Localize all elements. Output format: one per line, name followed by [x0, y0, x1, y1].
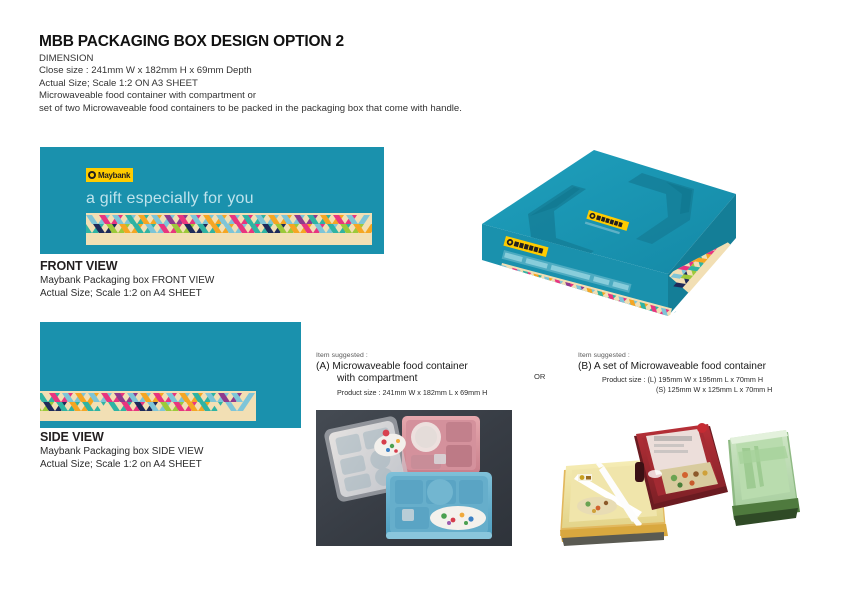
green-food-container — [728, 430, 800, 526]
chevron-pattern-front — [86, 213, 372, 245]
front-view-caption-line2: Actual Size; Scale 1:2 on A4 SHEET — [40, 287, 214, 300]
front-view-caption-title: FRONT VIEW — [40, 259, 214, 273]
option-b-block: Item suggested : (B) A set of Microwavea… — [578, 352, 772, 394]
option-b-product-size-l: Product size : (L) 195mm W x 195mm L x 7… — [578, 375, 772, 384]
front-view-caption: FRONT VIEW Maybank Packaging box FRONT V… — [40, 259, 214, 300]
blue-food-container — [386, 472, 492, 539]
option-a-block: Item suggested : (A) Microwaveable food … — [316, 352, 487, 397]
option-b-product-size-s: (S) 125mm W x 125mm L x 70mm H — [578, 385, 772, 394]
option-a-photo — [316, 410, 512, 546]
chevron-band-side — [40, 391, 256, 421]
packaging-box-3d-render — [468, 128, 738, 323]
side-view-caption-title: SIDE VIEW — [40, 430, 203, 444]
option-b-photo — [542, 418, 804, 550]
header-line-0: DIMENSION — [39, 53, 462, 65]
box-3d-svg — [468, 128, 738, 323]
option-b-photo-svg — [542, 418, 804, 550]
pink-food-container — [402, 416, 480, 474]
tagline-front: a gift especially for you — [86, 190, 254, 208]
option-b-item-suggested: Item suggested : — [578, 352, 772, 359]
header-line-4: set of two Microwaveable food containers… — [39, 103, 462, 115]
header-line-1: Close size : 241mm W x 182mm H x 69mm De… — [39, 65, 462, 77]
design-sheet: MBB PACKAGING BOX DESIGN OPTION 2 DIMENS… — [0, 0, 842, 595]
chevron-pattern-side — [40, 391, 256, 421]
option-a-product-size: Product size : 241mm W x 182mm L x 69mm … — [316, 388, 487, 397]
header-line-3: Microwaveable food container with compar… — [39, 90, 462, 102]
side-view-caption-line2: Actual Size; Scale 1:2 on A4 SHEET — [40, 458, 203, 471]
option-a-photo-svg — [316, 410, 512, 546]
maybank-wordmark: Maybank — [98, 171, 130, 180]
option-a-title-line2: with compartment — [316, 373, 487, 385]
chevron-band-front — [86, 213, 372, 245]
side-view-caption-line1: Maybank Packaging box SIDE VIEW — [40, 445, 203, 458]
option-a-title-line1: (A) Microwaveable food container — [316, 361, 487, 373]
header-block: MBB PACKAGING BOX DESIGN OPTION 2 DIMENS… — [39, 33, 462, 115]
front-view-caption-line1: Maybank Packaging box FRONT VIEW — [40, 274, 214, 287]
option-b-title-line1: (B) A set of Microwaveable food containe… — [578, 361, 772, 373]
side-view-artwork — [40, 322, 301, 428]
front-view-artwork: Maybank a gift especially for you — [40, 147, 384, 254]
side-view-caption: SIDE VIEW Maybank Packaging box SIDE VIE… — [40, 430, 203, 471]
maybank-logo-front: Maybank — [86, 168, 133, 182]
page-title: MBB PACKAGING BOX DESIGN OPTION 2 — [39, 33, 462, 51]
maybank-tiger-icon — [88, 171, 96, 179]
header-line-2: Actual Size; Scale 1:2 ON A3 SHEET — [39, 78, 462, 90]
option-a-item-suggested: Item suggested : — [316, 352, 487, 359]
or-label: OR — [534, 372, 545, 381]
